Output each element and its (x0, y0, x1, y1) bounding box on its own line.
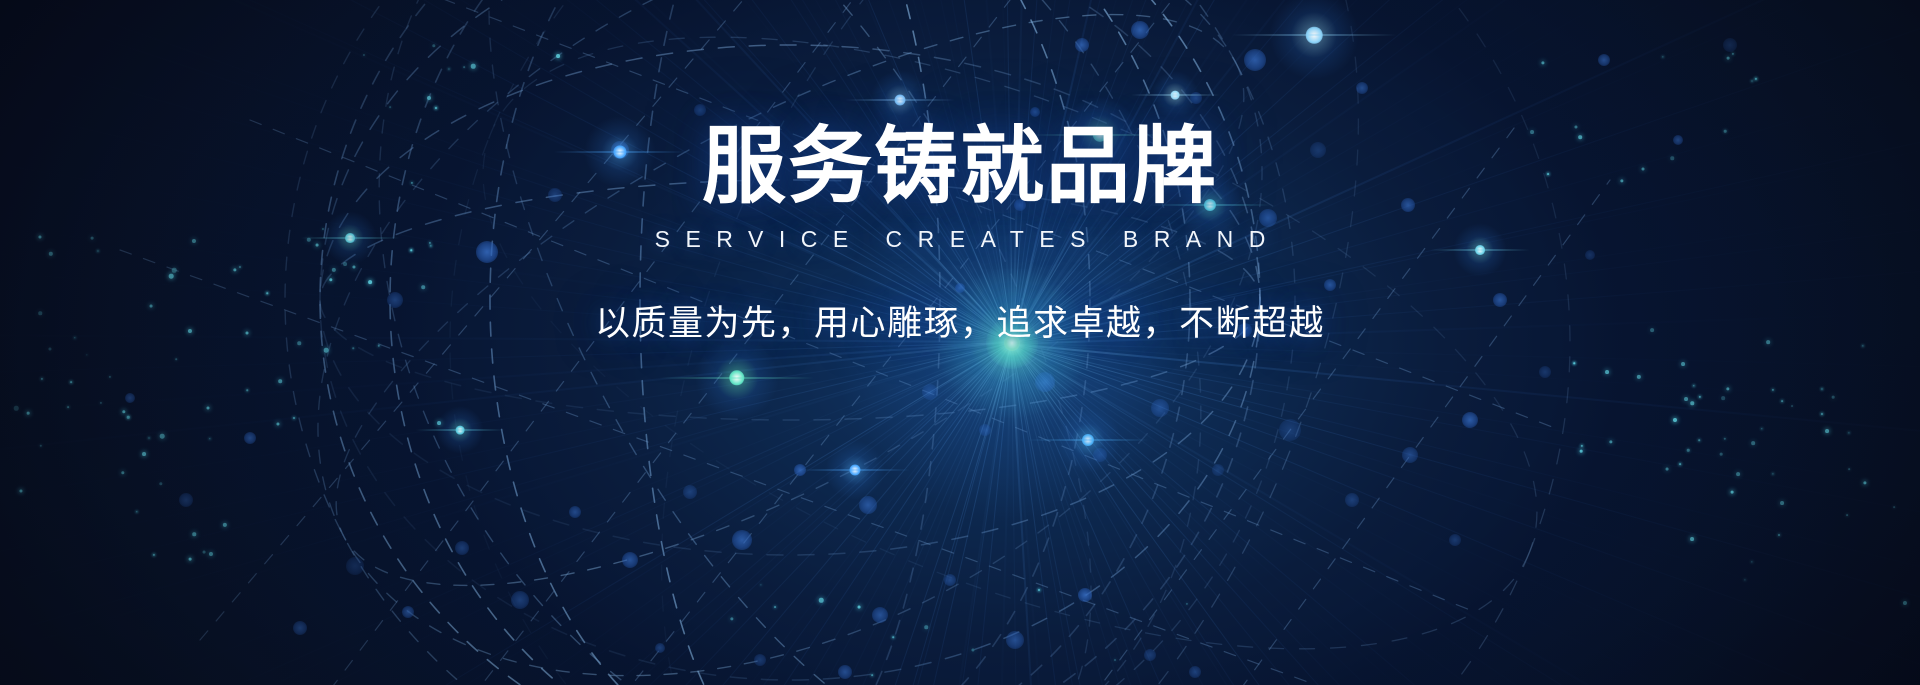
banner-subtitle: SERVICE CREATES BRAND (0, 224, 1920, 254)
hero-banner: 服务铸就品牌 SERVICE CREATES BRAND 以质量为先，用心雕琢，… (0, 0, 1920, 685)
banner-headline: 服务铸就品牌 (0, 118, 1920, 214)
banner-tagline: 以质量为先，用心雕琢，追求卓越，不断超越 (0, 300, 1920, 348)
banner-text-block: 服务铸就品牌 SERVICE CREATES BRAND 以质量为先，用心雕琢，… (0, 118, 1920, 348)
